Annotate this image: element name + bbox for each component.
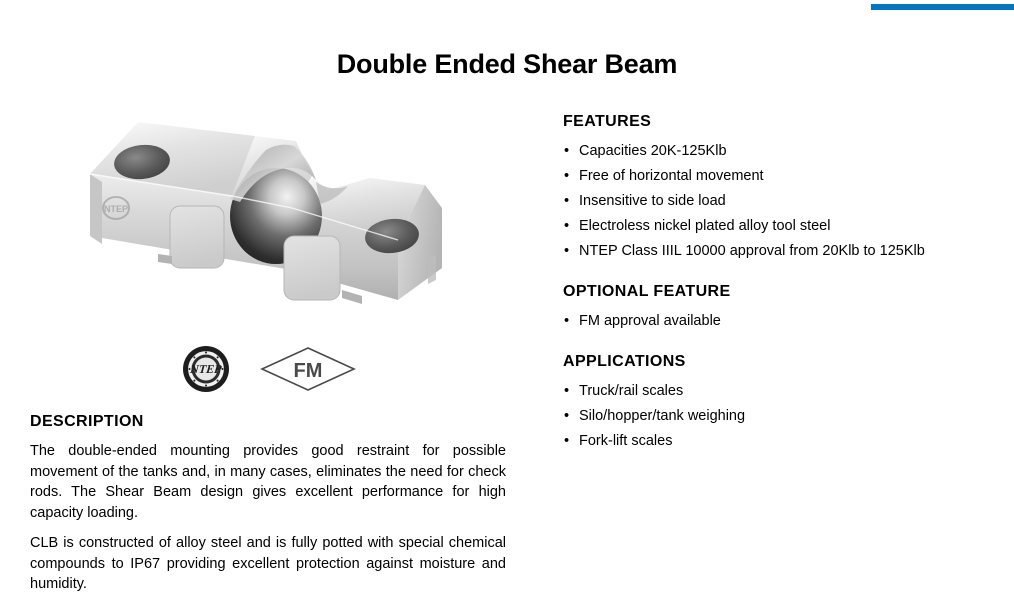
description-heading: DESCRIPTION [30,412,506,432]
svg-text:NTEP: NTEP [104,204,128,214]
list-item-label: Free of horizontal movement [579,168,764,184]
list-item: • NTEP Class IIIL 10000 approval from 20… [563,239,1014,264]
page-title: Double Ended Shear Beam [0,48,1014,81]
svg-text:FM: FM [294,360,323,382]
svg-text:NTEP: NTEP [189,362,223,376]
bullet-icon: • [564,139,569,164]
features-list: • Capacities 20K-125Klb • Free of horizo… [563,139,1014,264]
bullet-icon: • [564,429,569,454]
bullet-icon: • [564,189,569,214]
list-item-label: Silo/hopper/tank weighing [579,408,745,424]
list-item: • Truck/rail scales [563,379,1014,404]
list-item: • Silo/hopper/tank weighing [563,404,1014,429]
description-paragraph-2: CLB is constructed of alloy steel and is… [30,533,506,595]
bullet-icon: • [564,309,569,334]
description-section: DESCRIPTION The double-ended mounting pr… [30,412,506,595]
certification-logos: NTEP FM [30,340,508,398]
list-item: • FM approval available [563,309,1014,334]
bullet-icon: • [564,164,569,189]
list-item-label: Electroless nickel plated alloy tool ste… [579,218,830,234]
fm-diamond-icon: FM [260,346,356,392]
list-item: • Capacities 20K-125Klb [563,139,1014,164]
list-item-label: Capacities 20K-125Klb [579,143,727,159]
bullet-icon: • [564,214,569,239]
bullet-icon: • [564,404,569,429]
load-cell-photo: NTEP [80,104,480,334]
applications-heading: APPLICATIONS [563,352,1014,372]
product-column: NTEP [30,104,508,344]
list-item: • Electroless nickel plated alloy tool s… [563,214,1014,239]
specs-column: FEATURES • Capacities 20K-125Klb • Free … [563,112,1014,454]
list-item-label: Truck/rail scales [579,383,683,399]
list-item-label: Fork-lift scales [579,433,672,449]
optional-feature-list: • FM approval available [563,309,1014,334]
bullet-icon: • [564,379,569,404]
description-paragraph-1: The double-ended mounting provides good … [30,441,506,523]
bullet-icon: • [564,239,569,264]
list-item: • Fork-lift scales [563,429,1014,454]
applications-section: APPLICATIONS • Truck/rail scales • Silo/… [563,352,1014,454]
list-item: • Free of horizontal movement [563,164,1014,189]
optional-feature-heading: OPTIONAL FEATURE [563,282,1014,302]
applications-list: • Truck/rail scales • Silo/hopper/tank w… [563,379,1014,454]
list-item: • Insensitive to side load [563,189,1014,214]
list-item-label: FM approval available [579,313,721,329]
features-section: FEATURES • Capacities 20K-125Klb • Free … [563,112,1014,264]
optional-feature-section: OPTIONAL FEATURE • FM approval available [563,282,1014,334]
list-item-label: Insensitive to side load [579,193,726,209]
features-heading: FEATURES [563,112,1014,132]
list-item-label: NTEP Class IIIL 10000 approval from 20Kl… [579,243,925,259]
top-accent-bar [871,4,1014,10]
product-figure: NTEP [30,104,508,344]
ntep-seal-icon: NTEP [182,345,230,393]
